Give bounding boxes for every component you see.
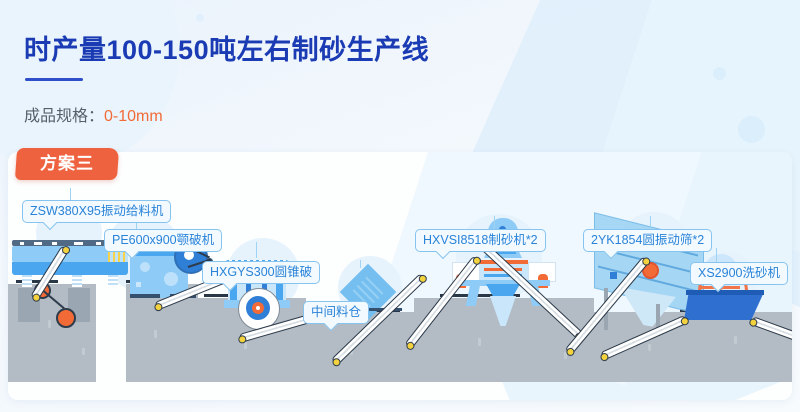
leader-sandmaker [494,216,495,230]
ground-speck [244,342,247,349]
ground-speck [478,338,481,346]
ground-speck [648,344,651,351]
poster-canvas: 时产量100-150吨左右制砂生产线 成品规格：0-10mm 方案三 [0,0,800,412]
process-diagram [8,152,792,400]
label-vibrating-screen-text: 2YK1854圆振动筛*2 [591,233,704,247]
label-sand-washer-text: XS2900洗砂机 [698,266,780,280]
leader-screen [650,216,651,230]
ground-speck [734,336,737,344]
leader-cone [256,242,257,258]
plan-badge-label: 方案三 [16,148,118,180]
spec-value: 0-10mm [104,108,163,125]
title-underline [25,78,83,81]
leader-washer [716,248,717,262]
background-dot-2 [738,116,765,143]
label-sand-washer[interactable]: XS2900洗砂机 [690,262,788,285]
label-cone-crusher-text: HXGYS300圆锥破 [210,265,312,279]
background-dot-3 [196,14,204,22]
ground-speck [48,320,51,328]
label-cone-crusher[interactable]: HXGYS300圆锥破 [202,261,320,284]
background-dot-1 [713,67,726,80]
label-jaw-crusher-text: PE600x900颚破机 [112,233,214,247]
leader-silo [360,260,361,268]
label-vibrating-feeder[interactable]: ZSW380X95振动给料机 [22,200,171,223]
label-sand-maker[interactable]: HXVSI8518制砂机*2 [415,229,546,252]
label-jaw-crusher[interactable]: PE600x900颚破机 [104,229,222,252]
ground-speck [82,348,85,355]
label-intermediate-silo[interactable]: 中间料仓 [303,301,369,324]
label-vibrating-screen[interactable]: 2YK1854圆振动筛*2 [583,229,712,252]
ground-speck [154,330,157,338]
plan-badge: 方案三 [15,148,119,180]
page-title: 时产量100-150吨左右制砂生产线 [24,28,429,67]
spec-line: 成品规格：0-10mm [24,102,163,126]
label-sand-maker-text: HXVSI8518制砂机*2 [423,233,538,247]
spec-label: 成品规格： [24,108,104,125]
diagram-card [8,152,792,400]
label-intermediate-silo-text: 中间料仓 [311,305,361,319]
